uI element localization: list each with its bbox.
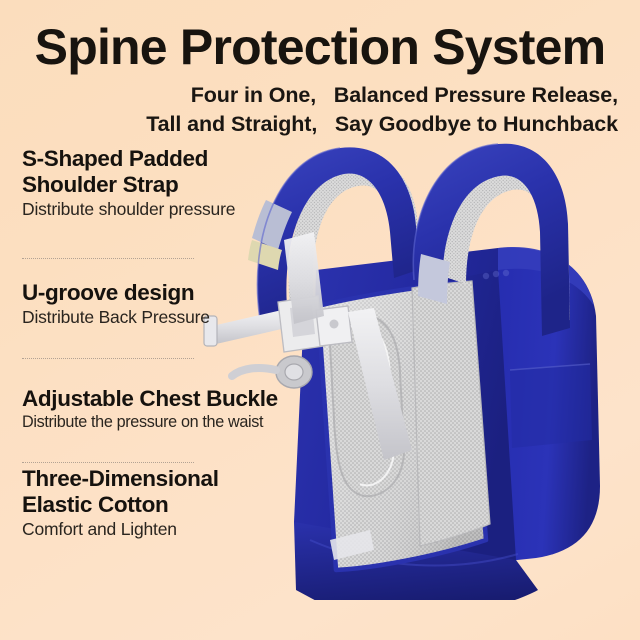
feature-divider: [22, 358, 194, 359]
feature-subtitle: Distribute Back Pressure: [22, 307, 210, 328]
feature-title: S-Shaped Padded Shoulder Strap: [22, 146, 235, 198]
feature-item-chest-buckle: Adjustable Chest Buckle Distribute the p…: [22, 386, 278, 433]
feature-title: Three-Dimensional Elastic Cotton: [22, 466, 219, 518]
product-image: [198, 120, 640, 600]
product-infographic: Spine Protection System Four in One, Bal…: [0, 0, 640, 640]
feature-divider: [22, 258, 194, 259]
subtitle-block: Four in One, Balanced Pressure Release, …: [0, 81, 640, 139]
feature-divider: [22, 462, 194, 463]
feature-item-u-groove: U-groove design Distribute Back Pressure: [22, 280, 210, 328]
subtitle-line-2: Tall and Straight, Say Goodbye to Hunchb…: [0, 110, 618, 139]
reflective-band-right: [418, 254, 450, 304]
webbing-left: [212, 310, 286, 344]
feature-subtitle: Distribute shoulder pressure: [22, 199, 235, 220]
feature-title: Adjustable Chest Buckle: [22, 386, 278, 412]
feature-item-shoulder-strap: S-Shaped Padded Shoulder Strap Distribut…: [22, 146, 235, 220]
strap-coil: [232, 356, 312, 388]
feature-subtitle: Distribute the pressure on the waist: [22, 413, 278, 432]
feature-item-elastic-cotton: Three-Dimensional Elastic Cotton Comfort…: [22, 466, 219, 540]
header: Spine Protection System Four in One, Bal…: [0, 0, 640, 139]
page-title: Spine Protection System: [0, 0, 640, 72]
feature-title: U-groove design: [22, 280, 210, 306]
subtitle-line-1: Four in One, Balanced Pressure Release,: [0, 81, 618, 110]
feature-subtitle: Comfort and Lighten: [22, 519, 219, 540]
